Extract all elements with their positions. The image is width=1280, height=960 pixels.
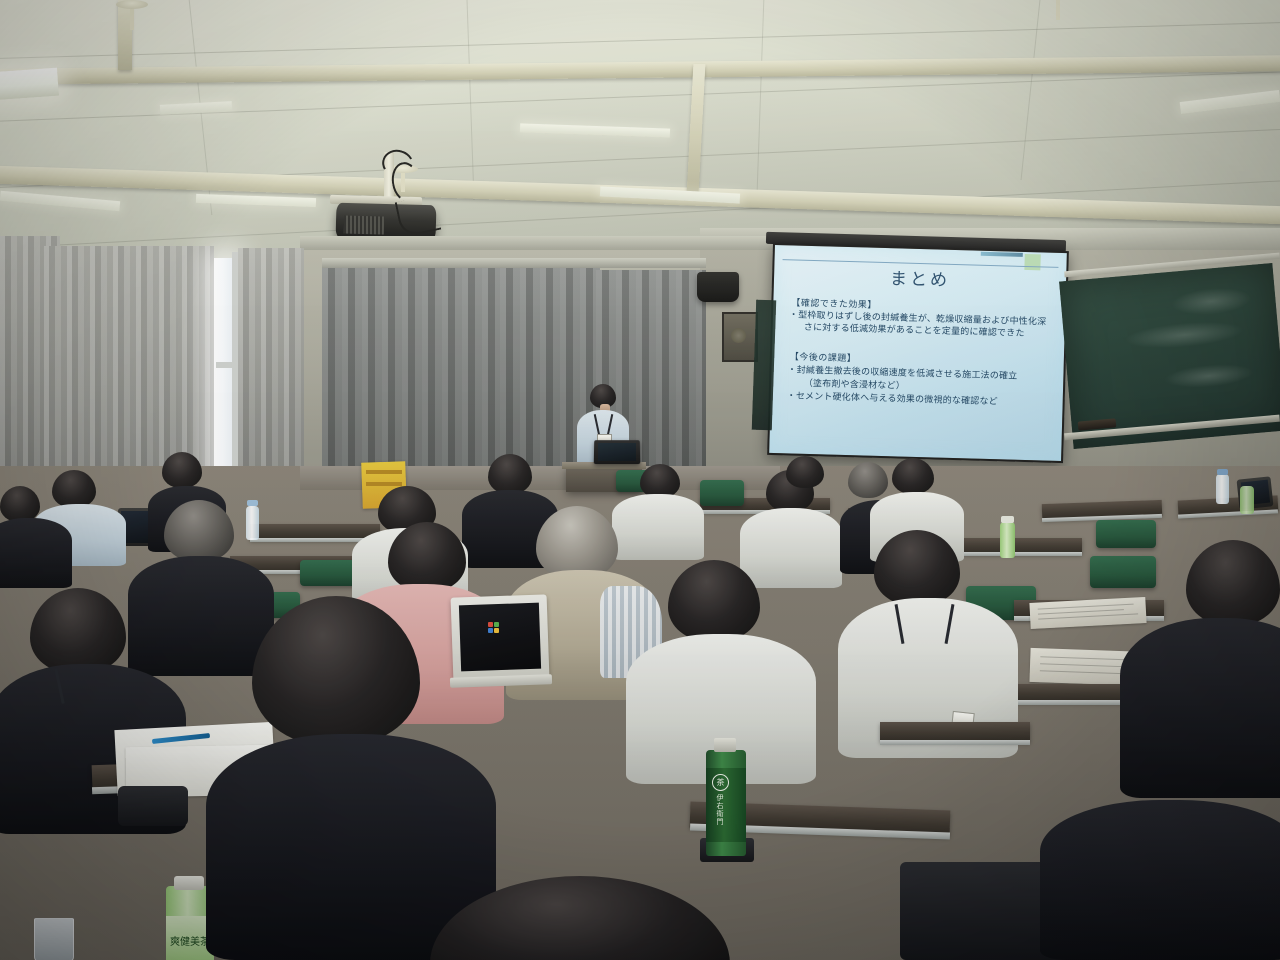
chalk-marks (1163, 361, 1255, 391)
green-tea-bottle-right (1000, 522, 1015, 558)
iyemon-bottle-name: 伊右衛門 (714, 794, 724, 838)
water-bottle-right (1216, 474, 1229, 504)
presenter-laptop-screen (598, 443, 636, 461)
attendee-body (0, 518, 72, 588)
drinking-glass (34, 918, 74, 960)
slide-line: ・セメント硬化体へ与える効果の微視的な確認など (787, 388, 998, 407)
bottle-cap (247, 500, 258, 506)
attendee-head (848, 462, 888, 498)
attendee-body (128, 556, 274, 676)
ceiling-rod (1056, 0, 1060, 20)
chair (300, 560, 360, 586)
attendee-head (52, 470, 96, 508)
ceiling-light (0, 68, 59, 101)
attendee-body (1120, 618, 1280, 798)
attendee-body (612, 494, 704, 560)
wall-speaker (697, 272, 739, 302)
chalk-marks (1170, 285, 1252, 318)
wall-plaque-emblem (731, 328, 746, 343)
bottle-cap (714, 738, 736, 752)
attendee-head (164, 500, 234, 562)
desk-edge (880, 740, 1030, 745)
attendee-head (640, 464, 680, 498)
projection-screen: まとめ 【確認できた効果】 ・型枠取りはずし後の封緘養生が、乾燥収縮量および中性… (767, 243, 1069, 463)
laptop-logo-icon (494, 622, 499, 627)
window-latch (216, 362, 236, 368)
chair (1096, 520, 1156, 548)
slide-header-bar (981, 252, 1023, 257)
chair (700, 480, 744, 506)
poster-stripe (366, 470, 402, 474)
iyemon-tea-mark: 茶 (712, 774, 729, 791)
wall-trim (300, 236, 770, 250)
attendee-body (740, 508, 842, 588)
bottle-cap (1217, 469, 1228, 475)
white-laptop-screen (459, 603, 541, 672)
laptop-logo-icon (488, 628, 493, 633)
bottle-far-right (1240, 486, 1254, 514)
bottle-cap (1001, 516, 1014, 523)
attendee-head (162, 452, 202, 488)
desk-edge (962, 552, 1082, 556)
chalk-marks (1123, 318, 1245, 352)
chair (1090, 556, 1156, 588)
lecture-room-photo: まとめ 【確認できた効果】 ・型枠取りはずし後の封緘養生が、乾燥収縮量および中性… (0, 0, 1280, 960)
attendee-head (892, 458, 934, 494)
attendee-head (786, 456, 824, 488)
poster-stripe (366, 482, 402, 486)
attendee-head (0, 486, 40, 522)
attendee-head (488, 454, 532, 494)
curtain-rail (322, 258, 706, 268)
desk (880, 722, 1030, 742)
water-bottle-left (246, 506, 259, 540)
bag (118, 786, 188, 826)
attendee-body-foreground (1040, 800, 1280, 960)
bottle-cap (174, 876, 204, 890)
projector-vent (344, 215, 384, 234)
laptop-logo-icon (488, 622, 493, 627)
ceiling-diffuser (116, 0, 148, 9)
laptop-logo-icon (494, 628, 499, 633)
